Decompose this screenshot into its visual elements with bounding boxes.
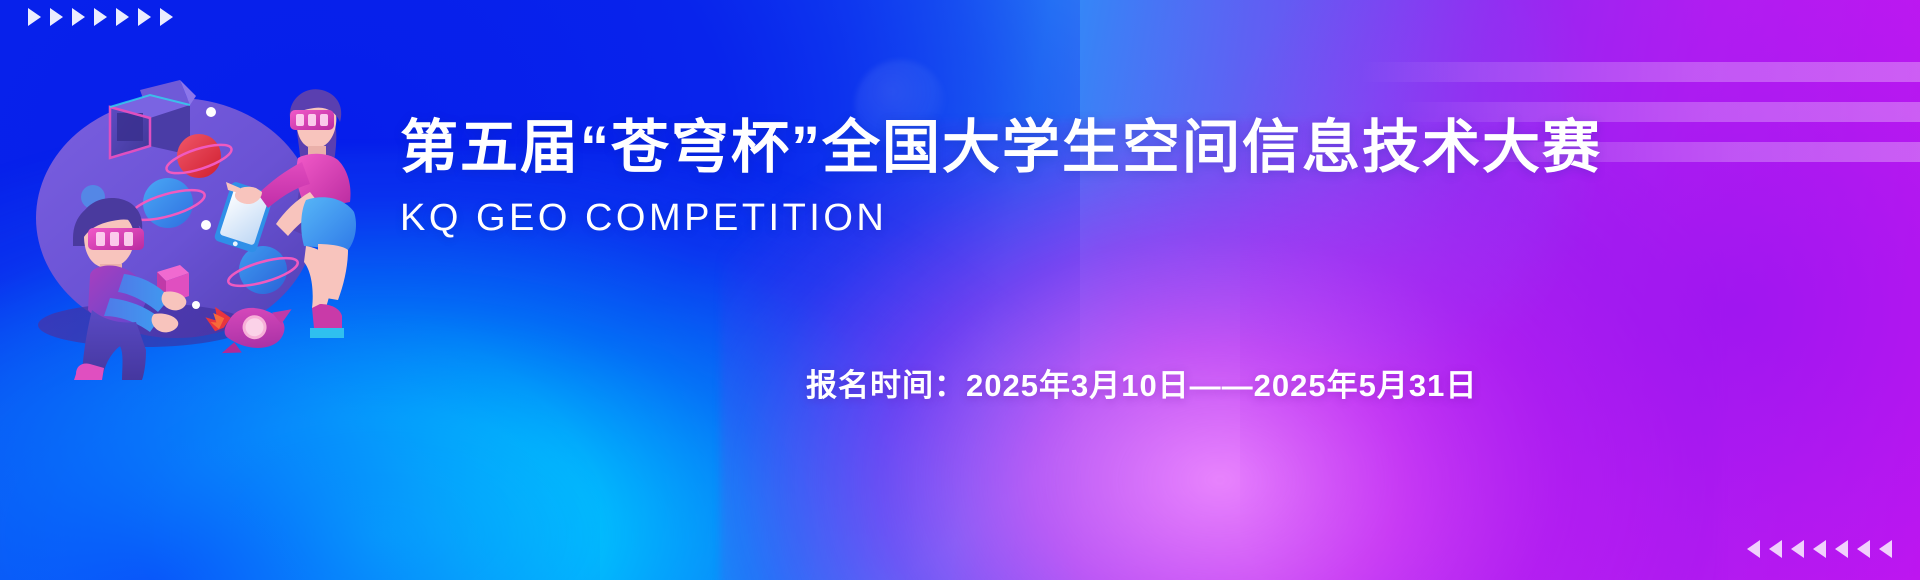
star-dot [201, 220, 211, 230]
competition-banner: 第五届“苍穹杯”全国大学生空间信息技术大赛 KQ GEO COMPETITION… [0, 0, 1920, 580]
vr-space-illustration [18, 60, 358, 380]
banner-text-block: 第五届“苍穹杯”全国大学生空间信息技术大赛 KQ GEO COMPETITION [400, 118, 1800, 240]
page-title: 第五届“苍穹杯”全国大学生空间信息技术大赛 [400, 118, 1800, 179]
star-dot [192, 301, 200, 309]
registration-period-text: 报名时间：2025年3月10日——2025年5月31日 [806, 360, 1477, 405]
star-dot [206, 107, 216, 117]
page-subtitle: KQ GEO COMPETITION [400, 197, 1800, 240]
